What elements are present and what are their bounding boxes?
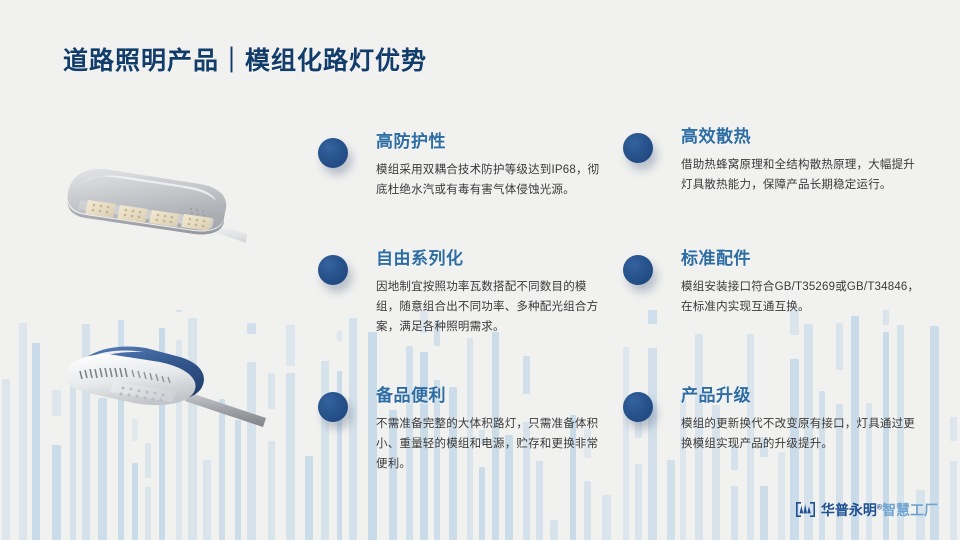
feature-heading: 高防护性 xyxy=(376,132,608,152)
feature-body: 借助热蜂窝原理和全结构散热原理，大幅提升灯具散热能力，保障产品长期稳定运行。 xyxy=(681,156,925,196)
feature-body: 因地制宜按照功率瓦数搭配不同数目的模组，随意组合出不同功率、多种配光组合方案，满… xyxy=(376,278,608,337)
feature-heading: 标准配件 xyxy=(681,249,925,269)
decorative-bar xyxy=(950,461,957,540)
page-title: 道路照明产品｜模组化路灯优势 xyxy=(63,41,427,77)
feature-body: 模组的更新换代不改变原有接口，灯具通过更换模组实现产品的升级提升。 xyxy=(681,415,925,455)
decorative-bar xyxy=(623,347,629,540)
decorative-bar xyxy=(836,323,843,370)
brand-logo: 华普永明®智慧工厂 xyxy=(795,501,938,518)
decorative-bar xyxy=(602,495,611,540)
decorative-bar xyxy=(176,310,182,312)
decorative-bar xyxy=(667,460,675,540)
logo-brand: 华普永明 xyxy=(821,502,877,518)
bullet-dot-icon xyxy=(623,133,653,163)
decorative-bar xyxy=(2,379,10,540)
decorative-bar xyxy=(648,348,657,540)
bullet-dot-icon xyxy=(623,392,653,422)
decorative-bar xyxy=(305,456,313,540)
feature-heading: 产品升级 xyxy=(681,386,925,406)
decorative-bar xyxy=(337,331,342,341)
decorative-bar xyxy=(584,481,591,540)
decorative-bar xyxy=(648,310,657,324)
decorative-bar xyxy=(132,463,138,540)
product-photo-modular-led-street-lamp xyxy=(42,148,292,253)
hpym-bracket-logo-icon xyxy=(795,501,816,518)
slide-root: 道路照明产品｜模组化路灯优势 xyxy=(0,0,960,540)
product-photo-teardrop-street-lamp xyxy=(30,330,288,440)
bullet-dot-icon xyxy=(318,138,348,168)
decorative-bar xyxy=(349,318,357,540)
feature-heading: 备品便利 xyxy=(376,386,608,406)
feature-body: 模组安装接口符合GB/T35269或GB/T34846，在标准内实现互通互换。 xyxy=(681,278,925,318)
decorative-bar xyxy=(321,361,329,540)
decorative-bar xyxy=(731,486,738,540)
decorative-bar xyxy=(778,452,785,540)
decorative-bar xyxy=(19,323,27,540)
bullet-dot-icon xyxy=(623,255,653,285)
decorative-bar xyxy=(950,417,957,441)
decorative-bar xyxy=(145,443,151,478)
bullet-dot-icon xyxy=(318,255,348,285)
decorative-bar xyxy=(268,441,275,540)
feature-body: 不需准备完整的大体积路灯，只需准备体积小、重量轻的模组和电源，贮存和更换非常便利… xyxy=(376,415,608,474)
feature-heading: 高效散热 xyxy=(681,127,925,147)
decorative-bar xyxy=(550,520,558,540)
decorative-bar xyxy=(760,486,768,540)
feature-heading: 自由系列化 xyxy=(376,249,608,269)
logo-subbrand: 智慧工厂 xyxy=(882,502,938,518)
decorative-bar xyxy=(479,467,485,540)
bullet-dot-icon xyxy=(318,392,348,422)
logo-text: 华普永明®智慧工厂 xyxy=(821,503,938,517)
decorative-bar xyxy=(635,464,642,540)
decorative-bar xyxy=(203,460,211,540)
decorative-bar xyxy=(52,445,61,540)
feature-body: 模组采用双耦合技术防护等级达到IP68，彻底杜绝水汽或有毒有害气体侵蚀光源。 xyxy=(376,161,608,201)
decorative-bar xyxy=(145,487,151,540)
